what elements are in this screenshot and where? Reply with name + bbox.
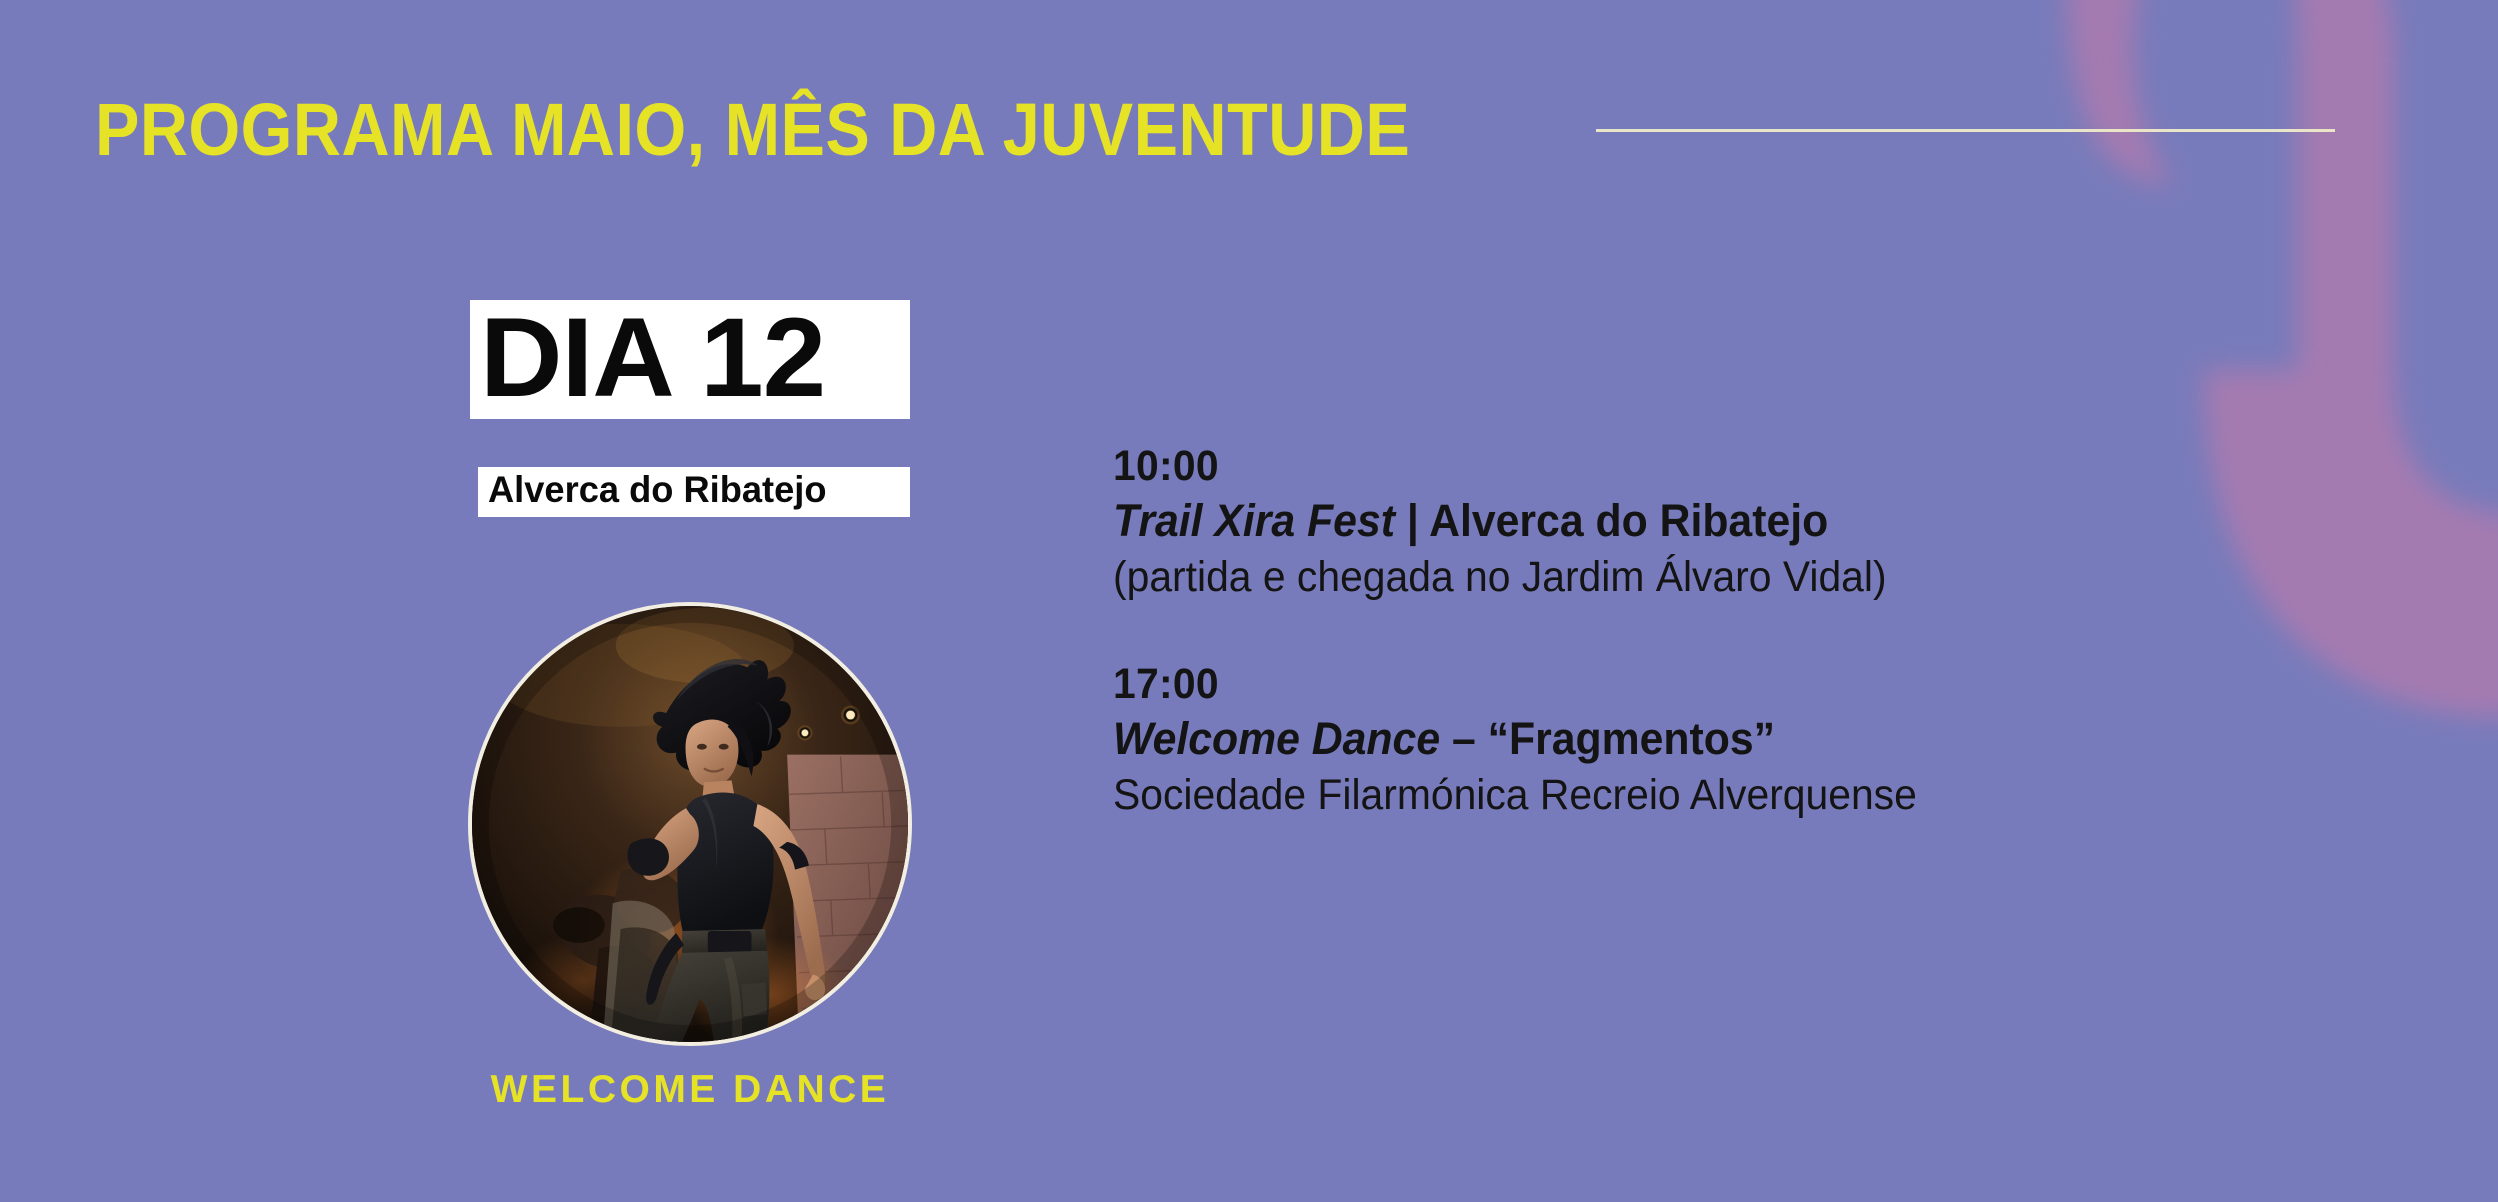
- schedule-list: 10:00 Trail Xira Fest | Alverca do Ribat…: [1113, 440, 2363, 824]
- day-card: DIA 12 Alverca do Ribatejo: [470, 300, 920, 517]
- event-title-rest: | Alverca do Ribatejo: [1395, 495, 1828, 546]
- event-title-rest: – “Fragmentos”: [1440, 713, 1775, 764]
- day-label: DIA 12: [480, 306, 908, 409]
- poster-canvas: PROGRAMA MAIO, MÊS DA JUVENTUDE DIA 12 A…: [0, 0, 2498, 1202]
- dancer-photo: [468, 602, 912, 1046]
- header-divider-rule: [1596, 129, 2335, 132]
- page-title: PROGRAMA MAIO, MÊS DA JUVENTUDE: [95, 93, 1410, 167]
- event-subtitle: (partida e chegada no Jardim Álvaro Vida…: [1113, 550, 2301, 606]
- place-badge: Alverca do Ribatejo: [478, 467, 910, 517]
- photo-caption: WELCOME DANCE: [468, 1068, 912, 1112]
- poster-header: PROGRAMA MAIO, MÊS DA JUVENTUDE: [95, 85, 2335, 175]
- dancer-photo-image: [472, 606, 908, 1042]
- event-time: 17:00: [1113, 658, 2301, 710]
- place-label: Alverca do Ribatejo: [488, 471, 888, 510]
- day-badge: DIA 12: [470, 300, 910, 419]
- event-subtitle: Sociedade Filarmónica Recreio Alverquens…: [1113, 768, 2301, 824]
- event-title: Trail Xira Fest | Alverca do Ribatejo: [1113, 492, 2301, 550]
- event-title: Welcome Dance – “Fragmentos”: [1113, 710, 2301, 768]
- event-time: 10:00: [1113, 440, 2301, 492]
- event-item: 10:00 Trail Xira Fest | Alverca do Ribat…: [1113, 440, 2363, 606]
- event-title-emphasis: Trail Xira Fest: [1113, 495, 1395, 546]
- event-item: 17:00 Welcome Dance – “Fragmentos” Socie…: [1113, 658, 2363, 824]
- event-title-emphasis: Welcome Dance: [1113, 713, 1440, 764]
